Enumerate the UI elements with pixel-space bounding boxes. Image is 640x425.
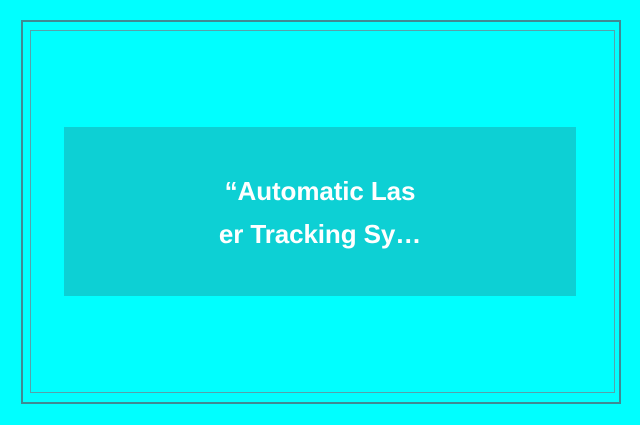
slide-canvas: “Automatic Laser Tracking Sy…: [0, 0, 640, 425]
banner-title-text: “Automatic Laser Tracking Sy…: [218, 170, 423, 256]
title-banner: “Automatic Laser Tracking Sy…: [64, 127, 576, 296]
